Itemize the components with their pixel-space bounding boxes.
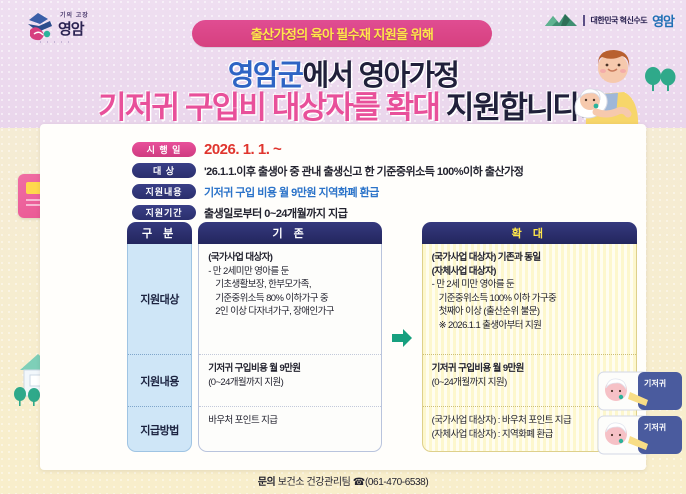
mountain-icon [544, 12, 578, 28]
main-title-line2-highlight: 기저귀 구입비 대상자를 확대 [98, 90, 439, 125]
info-label-content: 지원내용 [132, 184, 196, 199]
info-label-target: 대 상 [132, 163, 196, 178]
footer-contact: 문의 보건소 건강관리팀 ☎(061-470-6538) [0, 473, 686, 488]
mother-holding-baby-illustration [566, 42, 652, 132]
table-row-label-content: 지원내용 [128, 354, 191, 406]
yeongam-logo-right: 대한민국 혁신수도 영암 [544, 8, 674, 32]
info-value-target: '26.1.1.이후 출생아 중 관내 출생신고 한 기준중위소득 100%이하… [204, 163, 523, 179]
logo-left-dots: ・・・・・ [38, 39, 73, 46]
info-value-period: 출생일로부터 0~24개월까지 지급 [204, 205, 347, 221]
table-cell-existing-target: (국가사업 대상자) - 만 2세미만 영아를 둔 기초생활보장, 한부모가족,… [199, 244, 381, 354]
table-arrow-column [388, 222, 416, 454]
cell-line: 기저귀 구입비용 월 9만원 [208, 362, 372, 376]
right-arrow-icon [390, 327, 414, 349]
headline-banner: 출산가정의 육아 필수재 지원을 위해 [192, 20, 492, 47]
svg-text:기저귀: 기저귀 [644, 422, 666, 432]
logo-right-tagline: 대한민국 혁신수도 [590, 15, 647, 26]
table-column-category: 구 분 지원대상 지원내용 지급방법 [127, 222, 192, 454]
table-column-existing: 기 존 (국가사업 대상자) - 만 2세미만 영아를 둔 기초생활보장, 한부… [198, 222, 382, 454]
cell-line: (국가사업 대상자) [208, 251, 372, 265]
info-row: 대 상 '26.1.1.이후 출생아 중 관내 출생신고 한 기준중위소득 10… [132, 161, 523, 180]
footer-prefix: 문의 [258, 477, 276, 488]
logo-right-name: 영암 [652, 11, 674, 30]
cell-line: - 만 2세미만 영아를 둔 [208, 265, 372, 279]
logo-divider [583, 15, 585, 26]
table-existing-body: (국가사업 대상자) - 만 2세미만 영아를 둔 기초생활보장, 한부모가족,… [198, 244, 382, 452]
diaper-package-illustration: 기저귀 기저귀 [594, 368, 686, 458]
info-row: 지원내용 기저귀 구입 비용 월 9만원 지역화폐 환급 [132, 182, 523, 201]
cell-line: 바우처 포인트 지급 [208, 414, 372, 428]
table-cell-existing-content: 기저귀 구입비용 월 9만원 (0~24개월까지 지원) [199, 354, 381, 406]
info-value-schedule: 2026. 1. 1. ~ [204, 141, 281, 158]
table-row-label-target: 지원대상 [128, 244, 191, 354]
cell-line: 기준중위소득 80% 이하가구 중 [208, 292, 372, 306]
cell-line: 기준중위소득 100% 이하 가구중 [432, 292, 627, 306]
table-cell-expanded-target: (국가사업 대상자) 기존과 동일 (자체사업 대상자) - 만 2세 미만 영… [423, 244, 636, 354]
logo-left-name: 영암 [58, 18, 84, 39]
table-header-category: 구 분 [127, 222, 192, 244]
cell-line: (0~24개월까지 지원) [208, 376, 372, 390]
cell-line: 기초생활보장, 한부모가족, [208, 278, 372, 292]
table-header-expanded: 확 대 [422, 222, 637, 244]
headline-banner-text: 출산가정의 육아 필수재 지원을 위해 [251, 24, 433, 43]
info-value-content: 기저귀 구입 비용 월 9만원 지역화폐 환급 [204, 184, 379, 200]
cell-line: (국가사업 대상자) 기존과 동일 [432, 251, 627, 265]
table-cell-existing-method: 바우처 포인트 지급 [199, 406, 381, 452]
footer-phone: (061-470-6538) [365, 477, 428, 488]
table-category-body: 지원대상 지원내용 지급방법 [127, 244, 192, 452]
footer-dept: 보건소 건강관리팀 [278, 477, 351, 488]
svg-text:기저귀: 기저귀 [644, 378, 666, 388]
comparison-table: 구 분 지원대상 지원내용 지급방법 기 존 (국가사업 대상자) - 만 2세… [127, 222, 637, 454]
cell-line: ※ 2026.1.1 출생아부터 지원 [432, 319, 627, 333]
info-label-schedule: 시 행 일 [132, 142, 196, 157]
cell-line: 첫째아 이상 (출산순위 불문) [432, 305, 627, 319]
poster-root: 기의 고장 영암 ・・・・・ 대한민국 혁신수도 영암 출산가정의 육아 필수재… [0, 0, 686, 494]
trees-illustration [644, 66, 676, 92]
content-card: 시 행 일 2026. 1. 1. ~ 대 상 '26.1.1.이후 출생아 중… [40, 124, 646, 470]
table-row-label-method: 지급방법 [128, 406, 191, 452]
info-row: 지원기간 출생일로부터 0~24개월까지 지급 [132, 203, 523, 222]
info-label-period: 지원기간 [132, 205, 196, 220]
yeongam-logo-left: 기의 고장 영암 ・・・・・ [24, 6, 104, 50]
info-row: 시 행 일 2026. 1. 1. ~ [132, 140, 523, 159]
table-header-existing: 기 존 [198, 222, 382, 244]
cell-line: 2인 이상 다자녀가구, 장애인가구 [208, 305, 372, 319]
cell-line: (자체사업 대상자) [432, 265, 627, 279]
cell-line: - 만 2세 미만 영아를 둔 [432, 278, 627, 292]
phone-icon: ☎ [353, 477, 365, 488]
info-list: 시 행 일 2026. 1. 1. ~ 대 상 '26.1.1.이후 출생아 중… [132, 140, 523, 224]
